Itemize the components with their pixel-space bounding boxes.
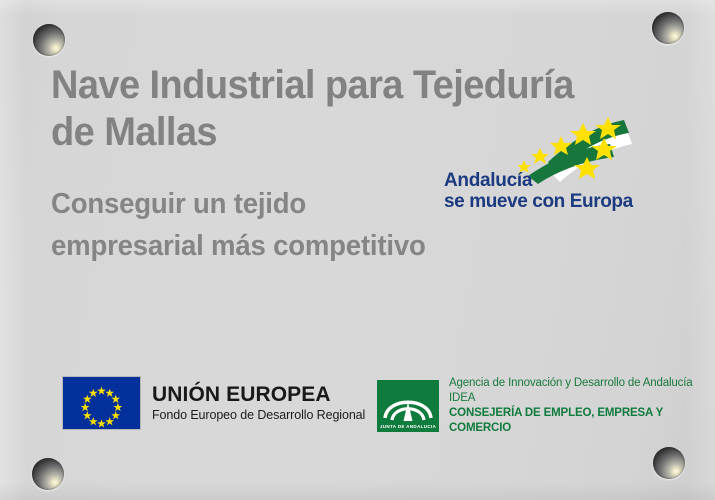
mounting-hole-bottom-right	[653, 447, 685, 479]
plaque-sheen-left	[0, 0, 26, 500]
junta-agency-line: Agencia de Innovación y Desarrollo de An…	[449, 376, 715, 406]
andalucia-logo-text: Andalucía se mueve con Europa	[444, 170, 634, 212]
junta-andalucia-emblem-icon: JUNTA DE ANDALUCIA	[377, 380, 439, 432]
eu-logo-subtitle: Fondo Europeo de Desarrollo Regional	[152, 407, 365, 423]
plaque-sheen-top	[0, 0, 715, 16]
junta-andalucia-logo: JUNTA DE ANDALUCIA Agencia de Innovación…	[377, 376, 715, 436]
title-line-1: Nave Industrial para Tejeduría	[51, 62, 460, 109]
eu-logo-title: UNIÓN EUROPEA	[152, 383, 365, 407]
mounting-hole-top-left	[33, 24, 65, 56]
junta-emblem-label: JUNTA DE ANDALUCIA	[377, 424, 439, 429]
plaque-sheen-bottom	[0, 482, 715, 500]
andalucia-text-line-2: se mueve con Europa	[444, 191, 634, 212]
title-line-2: de Mallas	[51, 109, 460, 156]
page-subtitle: Conseguir un tejido empresarial más comp…	[51, 183, 481, 267]
eu-logo-text: UNIÓN EUROPEA Fondo Europeo de Desarroll…	[152, 383, 365, 423]
commemorative-plaque: Nave Industrial para Tejeduría de Mallas…	[0, 0, 715, 500]
subtitle-line-1: Conseguir un tejido	[51, 183, 460, 225]
mounting-hole-top-right	[652, 12, 684, 44]
junta-consejeria-line: CONSEJERÍA DE EMPLEO, EMPRESA Y COMERCIO	[449, 406, 715, 436]
page-title: Nave Industrial para Tejeduría de Mallas	[51, 62, 481, 156]
european-union-logo: UNIÓN EUROPEA Fondo Europeo de Desarroll…	[62, 376, 365, 430]
junta-logo-text: Agencia de Innovación y Desarrollo de An…	[449, 376, 715, 436]
eu-flag-icon	[62, 376, 141, 430]
mounting-hole-bottom-left	[32, 458, 64, 490]
andalucia-se-mueve-logo: Andalucía se mueve con Europa	[440, 112, 635, 212]
subtitle-line-2: empresarial más competitivo	[51, 225, 460, 267]
andalucia-text-line-1: Andalucía	[444, 170, 634, 191]
